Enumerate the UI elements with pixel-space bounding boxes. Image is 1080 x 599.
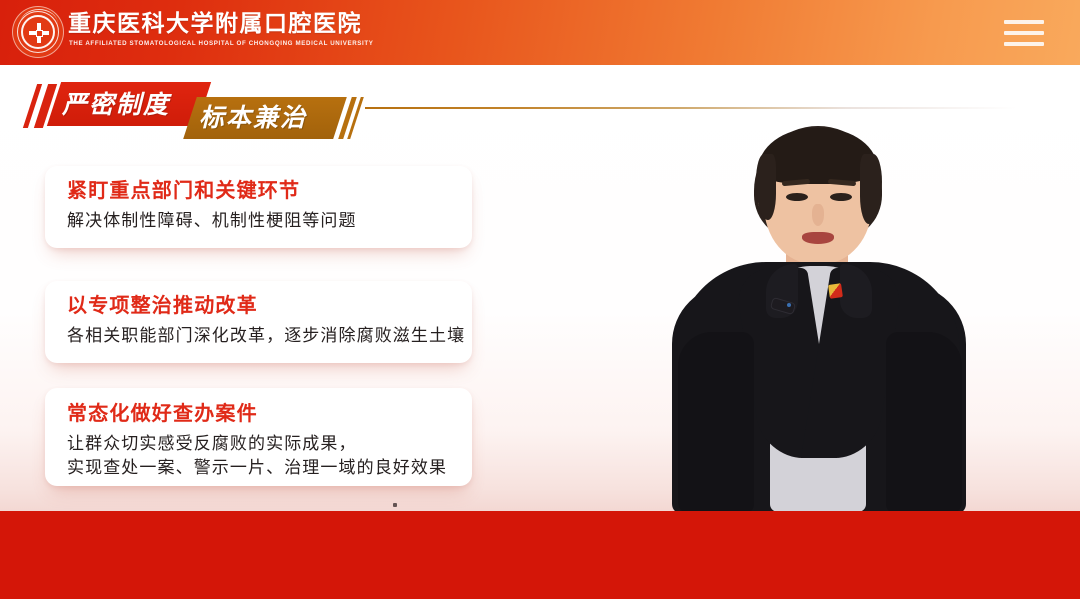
presenter-arm-right <box>886 332 962 514</box>
banner-secondary-label: 标本兼治 <box>199 99 351 137</box>
menu-bar-2 <box>1004 31 1044 35</box>
card-body-line: 让群众切实感受反腐败的实际成果， <box>67 432 357 457</box>
presenter-lapel-pin-icon <box>828 283 843 299</box>
site-header: 重庆医科大学附属口腔医院 THE AFFILIATED STOMATOLOGIC… <box>0 0 1080 65</box>
card-title: 紧盯重点部门和关键环节 <box>67 177 300 205</box>
card-title: 以专项整治推动改革 <box>67 292 258 320</box>
footer-caption-bar: 是打通不敢腐 不能腐 不想腐三者内在联系的重要纽带 THE AFFILIATED… <box>0 511 1080 599</box>
hospital-name-en: THE AFFILIATED STOMATOLOGICAL HOSPITAL O… <box>69 39 374 48</box>
menu-bar-3 <box>1004 42 1044 46</box>
content-card: 以专项整治推动改革 各相关职能部门深化改革，逐步消除腐败滋生土壤 <box>45 281 472 363</box>
presenter-hair-side-right <box>860 154 882 224</box>
presenter-figure <box>620 118 1020 511</box>
logo-tooth-icon <box>29 23 49 43</box>
logo-tooth-center <box>36 30 43 37</box>
card-body-line: 各相关职能部门深化改革，逐步消除腐败滋生土壤 <box>67 324 465 349</box>
logo-arc-text <box>20 9 58 24</box>
card-body-line: 解决体制性障碍、机制性梗阻等问题 <box>67 209 357 234</box>
presenter-eye-right <box>830 193 852 201</box>
slide-dot-marker <box>393 503 397 507</box>
presenter-eye-left <box>786 193 808 201</box>
hospital-seal-logo-icon <box>12 6 64 58</box>
banner-divider-line <box>365 107 1015 109</box>
presenter-nose <box>812 204 824 226</box>
content-card: 紧盯重点部门和关键环节 解决体制性障碍、机制性梗阻等问题 <box>45 166 472 248</box>
content-card: 常态化做好查办案件 让群众切实感受反腐败的实际成果， 实现查处一案、警示一片、治… <box>45 388 472 486</box>
presenter-arm-left <box>678 332 754 514</box>
presenter-microphone-indicator <box>787 303 791 307</box>
hospital-name-cn: 重庆医科大学附属口腔医院 <box>68 9 362 37</box>
card-body-line: 实现查处一案、警示一片、治理一域的良好效果 <box>67 456 447 481</box>
presenter-mouth <box>802 232 834 244</box>
menu-bar-1 <box>1004 20 1044 24</box>
hamburger-menu-icon[interactable] <box>1004 20 1044 46</box>
card-title: 常态化做好查办案件 <box>67 400 258 428</box>
presentation-slide: 重庆医科大学附属口腔医院 THE AFFILIATED STOMATOLOGIC… <box>0 0 1080 599</box>
